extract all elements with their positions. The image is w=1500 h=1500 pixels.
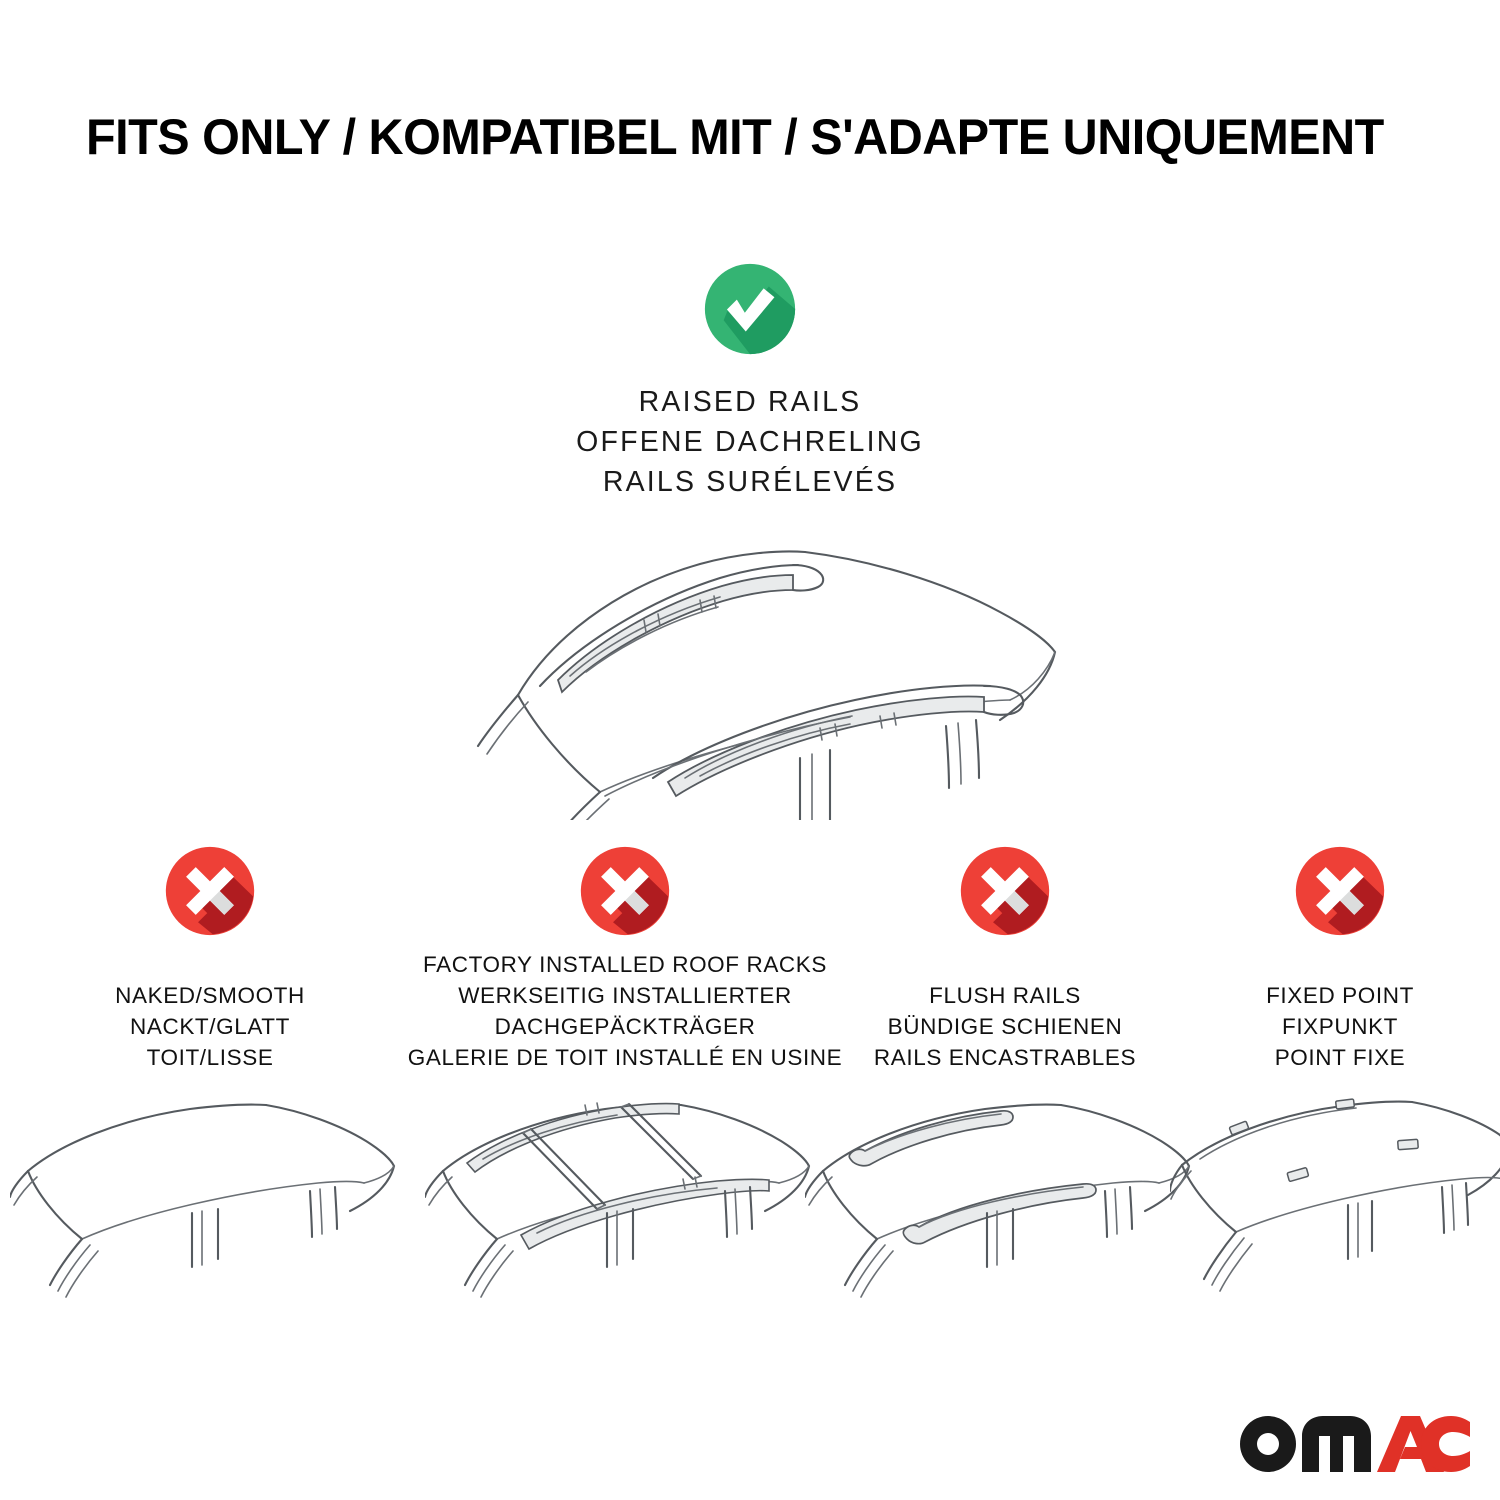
caption-line: OFFENE DACHRELING	[576, 422, 924, 462]
caption-line: RAISED RAILS	[576, 382, 924, 422]
caption-line: BÜNDIGE SCHIENEN	[874, 1011, 1136, 1042]
incompatible-item-flush-rails: FLUSH RAILS BÜNDIGE SCHIENEN RAILS ENCAS…	[830, 845, 1180, 1317]
item-caption: FLUSH RAILS BÜNDIGE SCHIENEN RAILS ENCAS…	[874, 980, 1136, 1073]
car-roof-fixed-point-illustration	[1170, 1087, 1500, 1317]
item-caption: FIXED POINT FIXPUNKT POINT FIXE	[1266, 980, 1414, 1073]
caption-line: GALERIE DE TOIT INSTALLÉ EN USINE	[408, 1042, 843, 1073]
caption-line: NACKT/GLATT	[115, 1011, 305, 1042]
caption-line: FIXED POINT	[1266, 980, 1414, 1011]
caption-line: RAILS ENCASTRABLES	[874, 1042, 1136, 1073]
omac-logo	[1230, 1404, 1470, 1476]
caption-line: DACHGEPÄCKTRÄGER	[408, 1011, 843, 1042]
caption-line: FIXPUNKT	[1266, 1011, 1414, 1042]
caption-line: TOIT/LISSE	[115, 1042, 305, 1073]
compatible-section: RAISED RAILS OFFENE DACHRELING RAILS SUR…	[0, 262, 1500, 820]
caption-line: WERKSEITIG INSTALLIERTER	[408, 980, 843, 1011]
car-roof-factory-rack-illustration	[425, 1087, 825, 1317]
page-title: FITS ONLY / KOMPATIBEL MIT / S'ADAPTE UN…	[86, 108, 1386, 166]
car-roof-naked-illustration	[10, 1087, 410, 1317]
caption-line: RAILS SURÉLEVÉS	[576, 462, 924, 502]
car-roof-flush-rails-illustration	[805, 1087, 1205, 1317]
item-caption: FACTORY INSTALLED ROOF RACKS WERKSEITIG …	[408, 949, 843, 1073]
caption-line: NAKED/SMOOTH	[115, 980, 305, 1011]
green-check-icon	[703, 262, 797, 356]
incompatible-item-fixed-point: FIXED POINT FIXPUNKT POINT FIXE	[1180, 845, 1500, 1317]
compatible-caption: RAISED RAILS OFFENE DACHRELING RAILS SUR…	[576, 382, 924, 502]
item-caption: NAKED/SMOOTH NACKT/GLATT TOIT/LISSE	[115, 980, 305, 1073]
red-x-icon	[1294, 845, 1386, 937]
incompatible-section: NAKED/SMOOTH NACKT/GLATT TOIT/LISSE	[0, 845, 1500, 1317]
red-x-icon	[959, 845, 1051, 937]
red-x-icon	[579, 845, 671, 937]
caption-line: FACTORY INSTALLED ROOF RACKS	[408, 949, 843, 980]
incompatible-item-naked-smooth: NAKED/SMOOTH NACKT/GLATT TOIT/LISSE	[0, 845, 420, 1317]
car-roof-raised-rails-illustration	[400, 520, 1100, 820]
incompatible-item-factory-roof-racks: FACTORY INSTALLED ROOF RACKS WERKSEITIG …	[420, 845, 830, 1317]
caption-line: POINT FIXE	[1266, 1042, 1414, 1073]
caption-line: FLUSH RAILS	[874, 980, 1136, 1011]
red-x-icon	[164, 845, 256, 937]
